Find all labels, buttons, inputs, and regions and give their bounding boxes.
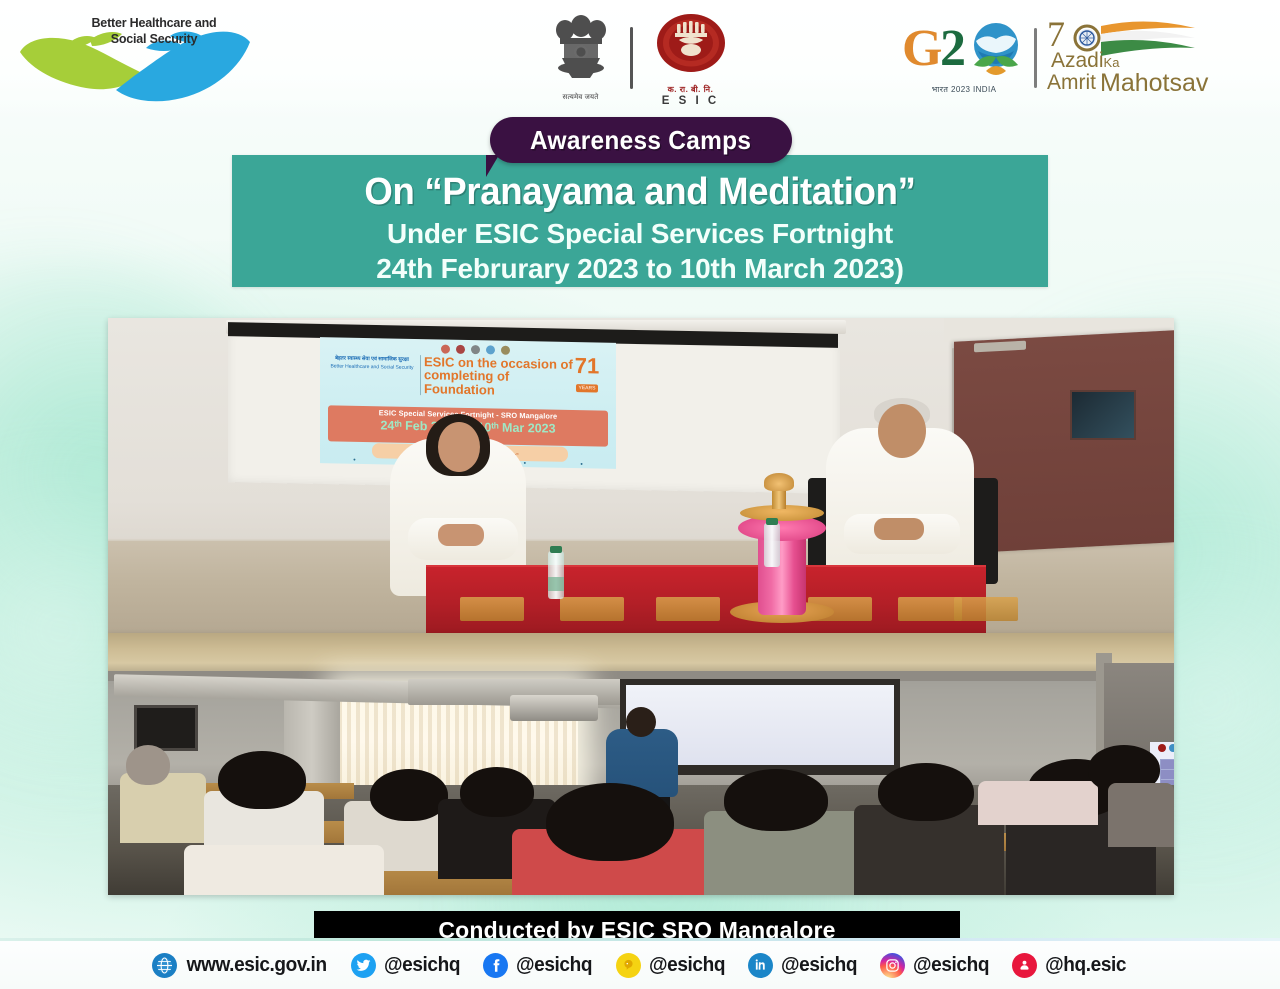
slide-footer-icon-5: ● [580, 461, 583, 466]
slide-years-number: 71 [564, 356, 610, 377]
door-window [1070, 390, 1136, 440]
campaign-logos-group: G 2 भारत 2023 INDIA 7 [900, 8, 1260, 108]
slide-footer-icon-4: ● [523, 460, 526, 465]
azadi-line2: Amrit [1047, 71, 1096, 94]
slide-divider [420, 355, 421, 395]
audience-session-photo: ATTRACT DISABLEMENT BENEFIT [108, 633, 1174, 895]
slide-left-english: Better Healthcare and Social Security [326, 363, 418, 371]
slide-years-label: YEARS [576, 384, 599, 392]
esic-emblem-icon [653, 12, 729, 78]
slide-table-row [1161, 760, 1174, 770]
attendee-body [184, 845, 384, 895]
inauguration-photo: बेहतर स्वास्थ्य सेवा एवं सामाजिक सुरक्षा… [108, 318, 1174, 633]
bottle-label-left [548, 577, 564, 591]
attendee-body [978, 781, 1098, 825]
poster-canvas: Better Healthcare and Social Security [0, 0, 1280, 989]
ceiling-projector [510, 695, 598, 721]
campaign-divider [1034, 28, 1037, 88]
banner-title: On “Pranayama and Meditation” [248, 171, 1031, 214]
attendee-head [460, 767, 534, 817]
footer-label-koo: @esichq [649, 954, 725, 977]
attendee-head [370, 769, 448, 821]
attendee-head [218, 751, 306, 809]
linkedin-icon [748, 953, 773, 978]
svg-text:G: G [902, 20, 942, 77]
face-right [878, 404, 926, 458]
footer-label-facebook: @esichq [516, 954, 592, 977]
banner-dates: 24th Februrary 2023 to 10th March 2023) [232, 253, 1048, 285]
footer-label-twitter: @esichq [384, 954, 460, 977]
banner-subtitle: Under ESIC Special Services Fortnight [232, 218, 1048, 250]
g20-lotus-icon: G 2 [900, 15, 1028, 89]
koo-icon [616, 953, 641, 978]
footer-item-koo[interactable]: @esichq [616, 953, 727, 978]
attendee-head [126, 745, 170, 785]
g20-caption: भारत 2023 INDIA [900, 84, 1028, 95]
instagram-icon [880, 953, 905, 978]
svg-text:7: 7 [1047, 14, 1065, 54]
slide-logo-4 [486, 345, 495, 354]
presenter-head [626, 707, 656, 737]
hands-left [438, 524, 484, 546]
facebook-icon [483, 953, 508, 978]
table-motif [954, 597, 1018, 621]
slide-logo-3 [471, 345, 480, 354]
footer-label-linkedin: @esichq [781, 954, 857, 977]
emblem-of-india: सत्यमेव जयते [542, 12, 620, 104]
attendee-body [120, 773, 206, 843]
awareness-camps-badge: Awareness Camps [490, 117, 792, 163]
social-footer: www.esic.gov.in @esichq @esichq @esichq [0, 941, 1280, 989]
sharechat-icon [1012, 953, 1037, 978]
attendee-head [724, 769, 828, 831]
svg-text:2: 2 [940, 20, 966, 77]
lamp-finial [764, 473, 794, 491]
ashoka-lion-capital-icon [542, 12, 620, 90]
water-bottle-right [764, 523, 780, 567]
title-banner: On “Pranayama and Meditation” Under ESIC… [232, 155, 1048, 287]
slide-logo-2 [456, 344, 465, 353]
esic-english-label: E S I C [643, 95, 739, 107]
table-motif [898, 597, 962, 621]
water-bottle-left [548, 551, 564, 599]
footer-label-instagram: @esichq [913, 954, 989, 977]
table-motif [656, 597, 720, 621]
speech-bubble-tail [486, 155, 499, 177]
slide-footer-icon-1: ● [353, 456, 356, 461]
face-left [438, 422, 480, 472]
globe-icon [152, 953, 177, 978]
attendee-head-foreground [546, 783, 674, 861]
footer-item-linkedin[interactable]: @esichq [748, 953, 859, 978]
awareness-camps-label: Awareness Camps [530, 125, 751, 156]
esic-hindi-label: क. रा. बी. नि. [643, 84, 739, 95]
footer-label-sharechat: @hq.esic [1045, 954, 1126, 977]
table-motif [460, 597, 524, 621]
slide-logo-1 [441, 344, 450, 353]
table-motif [560, 597, 624, 621]
twitter-icon [351, 953, 376, 978]
footer-item-website[interactable]: www.esic.gov.in [152, 953, 330, 978]
azadi-line1: Azadi [1051, 49, 1104, 72]
emblem-caption: सत्यमेव जयते [542, 93, 620, 102]
attendee-body [1108, 783, 1174, 847]
azadi-wordmark: AzadiKa AmritMahotsav [1051, 50, 1233, 96]
presentation-slide-title: ATTRACT DISABLEMENT BENEFIT [1150, 749, 1174, 755]
azadi-mahotsav: Mahotsav [1100, 69, 1208, 97]
header-divider [630, 27, 633, 89]
g20-india-2023-logo: G 2 भारत 2023 INDIA [900, 15, 1028, 101]
bottle-cap-right [766, 518, 778, 525]
slide-logo-5 [501, 345, 510, 354]
left-logo-line2: Social Security [64, 32, 244, 48]
azadi-ka: Ka [1104, 55, 1120, 70]
classroom-ceiling [108, 633, 1174, 673]
footer-item-twitter[interactable]: @esichq [351, 953, 462, 978]
slide-years-badge: 71 YEARS [564, 356, 610, 395]
footer-item-sharechat[interactable]: @hq.esic [1012, 953, 1128, 978]
hands-right [874, 518, 924, 540]
esic-logo: क. रा. बी. नि. E S I C [643, 12, 739, 104]
slide-left-block: बेहतर स्वास्थ्य सेवा एवं सामाजिक सुरक्षा… [326, 355, 418, 370]
slide-table-row [1161, 770, 1174, 780]
government-logos-group: सत्यमेव जयते [525, 10, 755, 105]
slide-title: ESIC on the occasion of completing of Fo… [424, 355, 574, 398]
bottle-cap-left [550, 546, 562, 553]
header-logo-strip: Better Healthcare and Social Security [0, 0, 1280, 112]
footer-label-website: www.esic.gov.in [187, 954, 327, 977]
footer-item-facebook[interactable]: @esichq [483, 953, 594, 978]
attendee-head [878, 763, 974, 821]
left-logo-line1: Better Healthcare and [64, 16, 244, 32]
wall-monitor [134, 705, 198, 751]
better-healthcare-social-security-logo: Better Healthcare and Social Security [12, 8, 262, 106]
azadi-ka-amrit-mahotsav-logo: 7 AzadiKa AmritMahotsav [1043, 12, 1233, 104]
footer-item-instagram[interactable]: @esichq [880, 953, 991, 978]
left-logo-text: Better Healthcare and Social Security [64, 16, 244, 47]
